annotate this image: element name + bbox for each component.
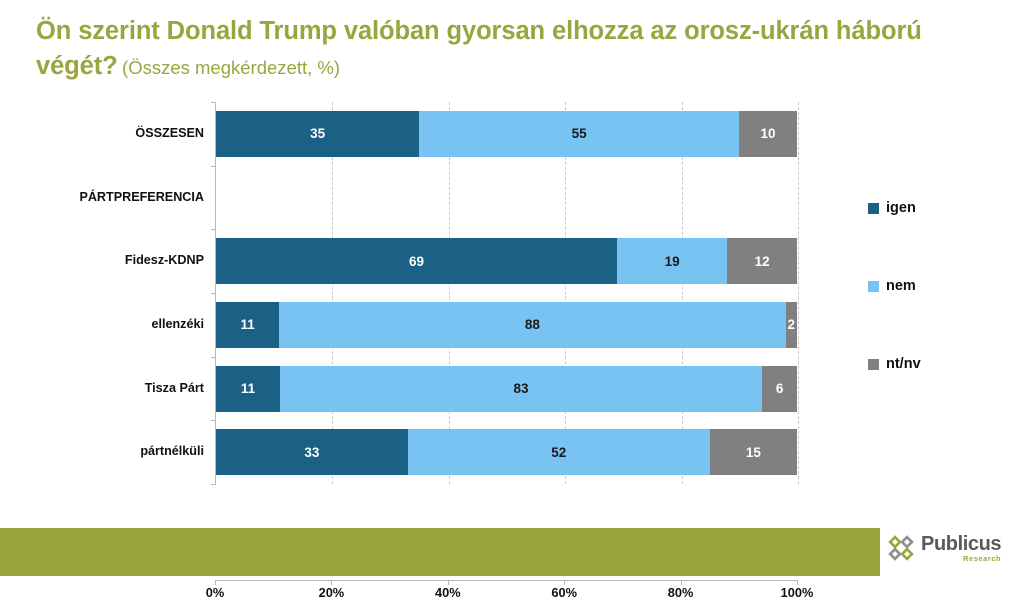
category-label-2: PÁRTPREFERENCIA xyxy=(4,190,204,204)
bar-segment-ntnv: 6 xyxy=(762,366,797,412)
legend-label: nem xyxy=(886,278,916,294)
bar-value-label: 55 xyxy=(572,126,587,141)
publicus-logo: Publicus Research xyxy=(880,520,1024,576)
bar-row: 11836 xyxy=(216,366,797,412)
bar-value-label: 2 xyxy=(787,317,795,332)
footer-band xyxy=(0,528,1024,576)
bar-segment-igen: 11 xyxy=(216,366,280,412)
category-tick xyxy=(211,484,216,485)
bar-value-label: 52 xyxy=(551,445,566,460)
bar-row: 691912 xyxy=(216,238,797,284)
four-diamonds-icon xyxy=(886,533,916,563)
bar-segment-ntnv: 2 xyxy=(786,302,797,348)
legend-square-icon xyxy=(868,203,879,214)
bar-segment-igen: 69 xyxy=(216,238,617,284)
legend-item-nem[interactable]: nem xyxy=(868,278,998,294)
category-label-3: Fidesz-KDNP xyxy=(4,253,204,267)
category-label-5: Tisza Párt xyxy=(4,381,204,395)
legend-item-nt-nv[interactable]: nt/nv xyxy=(868,356,998,372)
x-tick-label-40: 40% xyxy=(435,585,461,600)
bar-segment-igen: 35 xyxy=(216,111,419,157)
bar-segment-ntnv: 10 xyxy=(739,111,797,157)
legend-label: igen xyxy=(886,200,916,216)
legend-label: nt/nv xyxy=(886,356,921,372)
bar-value-label: 6 xyxy=(776,381,784,396)
bar-segment-nem: 83 xyxy=(280,366,762,412)
legend-square-icon xyxy=(868,281,879,292)
x-tick-label-0: 0% xyxy=(206,585,225,600)
bar-segment-ntnv: 12 xyxy=(727,238,797,284)
x-tick-label-60: 60% xyxy=(551,585,577,600)
plot-area: ÖSSZESENPÁRTPREFERENCIAFidesz-KDNPellenz… xyxy=(215,102,797,484)
category-label-4: ellenzéki xyxy=(4,317,204,331)
bar-value-label: 10 xyxy=(760,126,775,141)
bar-segment-nem: 88 xyxy=(279,302,785,348)
bar-row: 355510 xyxy=(216,111,797,157)
category-label-1: ÖSSZESEN xyxy=(4,126,204,140)
bar-value-label: 69 xyxy=(409,254,424,269)
bar-segment-igen: 11 xyxy=(216,302,279,348)
legend-square-icon xyxy=(868,359,879,370)
legend-item-igen[interactable]: igen xyxy=(868,200,998,216)
bar-row: 11882 xyxy=(216,302,797,348)
logo-text: Publicus Research xyxy=(921,534,1001,562)
bar-value-label: 11 xyxy=(241,381,255,396)
x-tick-label-20: 20% xyxy=(319,585,345,600)
bar-segment-igen: 33 xyxy=(216,429,408,475)
bar-rows: 3555106919121188211836335215 xyxy=(216,102,797,484)
bar-value-label: 19 xyxy=(665,254,680,269)
bar-segment-nem: 19 xyxy=(617,238,727,284)
bar-value-label: 88 xyxy=(525,317,540,332)
bar-value-label: 83 xyxy=(514,381,529,396)
bar-row: 335215 xyxy=(216,429,797,475)
bar-segment-nem: 55 xyxy=(419,111,739,157)
x-tick-label-80: 80% xyxy=(668,585,694,600)
bar-value-label: 11 xyxy=(241,317,255,332)
bar-value-label: 15 xyxy=(746,445,761,460)
bar-value-label: 33 xyxy=(304,445,319,460)
chart-legend: igennemnt/nv xyxy=(868,200,998,434)
bar-value-label: 35 xyxy=(310,126,325,141)
logo-name-text: Publicus xyxy=(921,534,1001,554)
x-axis-line xyxy=(215,580,798,581)
logo-tagline-text: Research xyxy=(921,555,1001,562)
category-label-6: pártnélküli xyxy=(4,444,204,458)
bar-segment-nem: 52 xyxy=(408,429,710,475)
title-subtitle-text: (Összes megkérdezett, %) xyxy=(122,57,340,78)
x-tick-label-100: 100% xyxy=(781,585,814,600)
gridline-100 xyxy=(798,102,799,484)
page-title: Ön szerint Donald Trump valóban gyorsan … xyxy=(36,14,986,83)
bar-segment-ntnv: 15 xyxy=(710,429,797,475)
bar-value-label: 12 xyxy=(755,254,770,269)
